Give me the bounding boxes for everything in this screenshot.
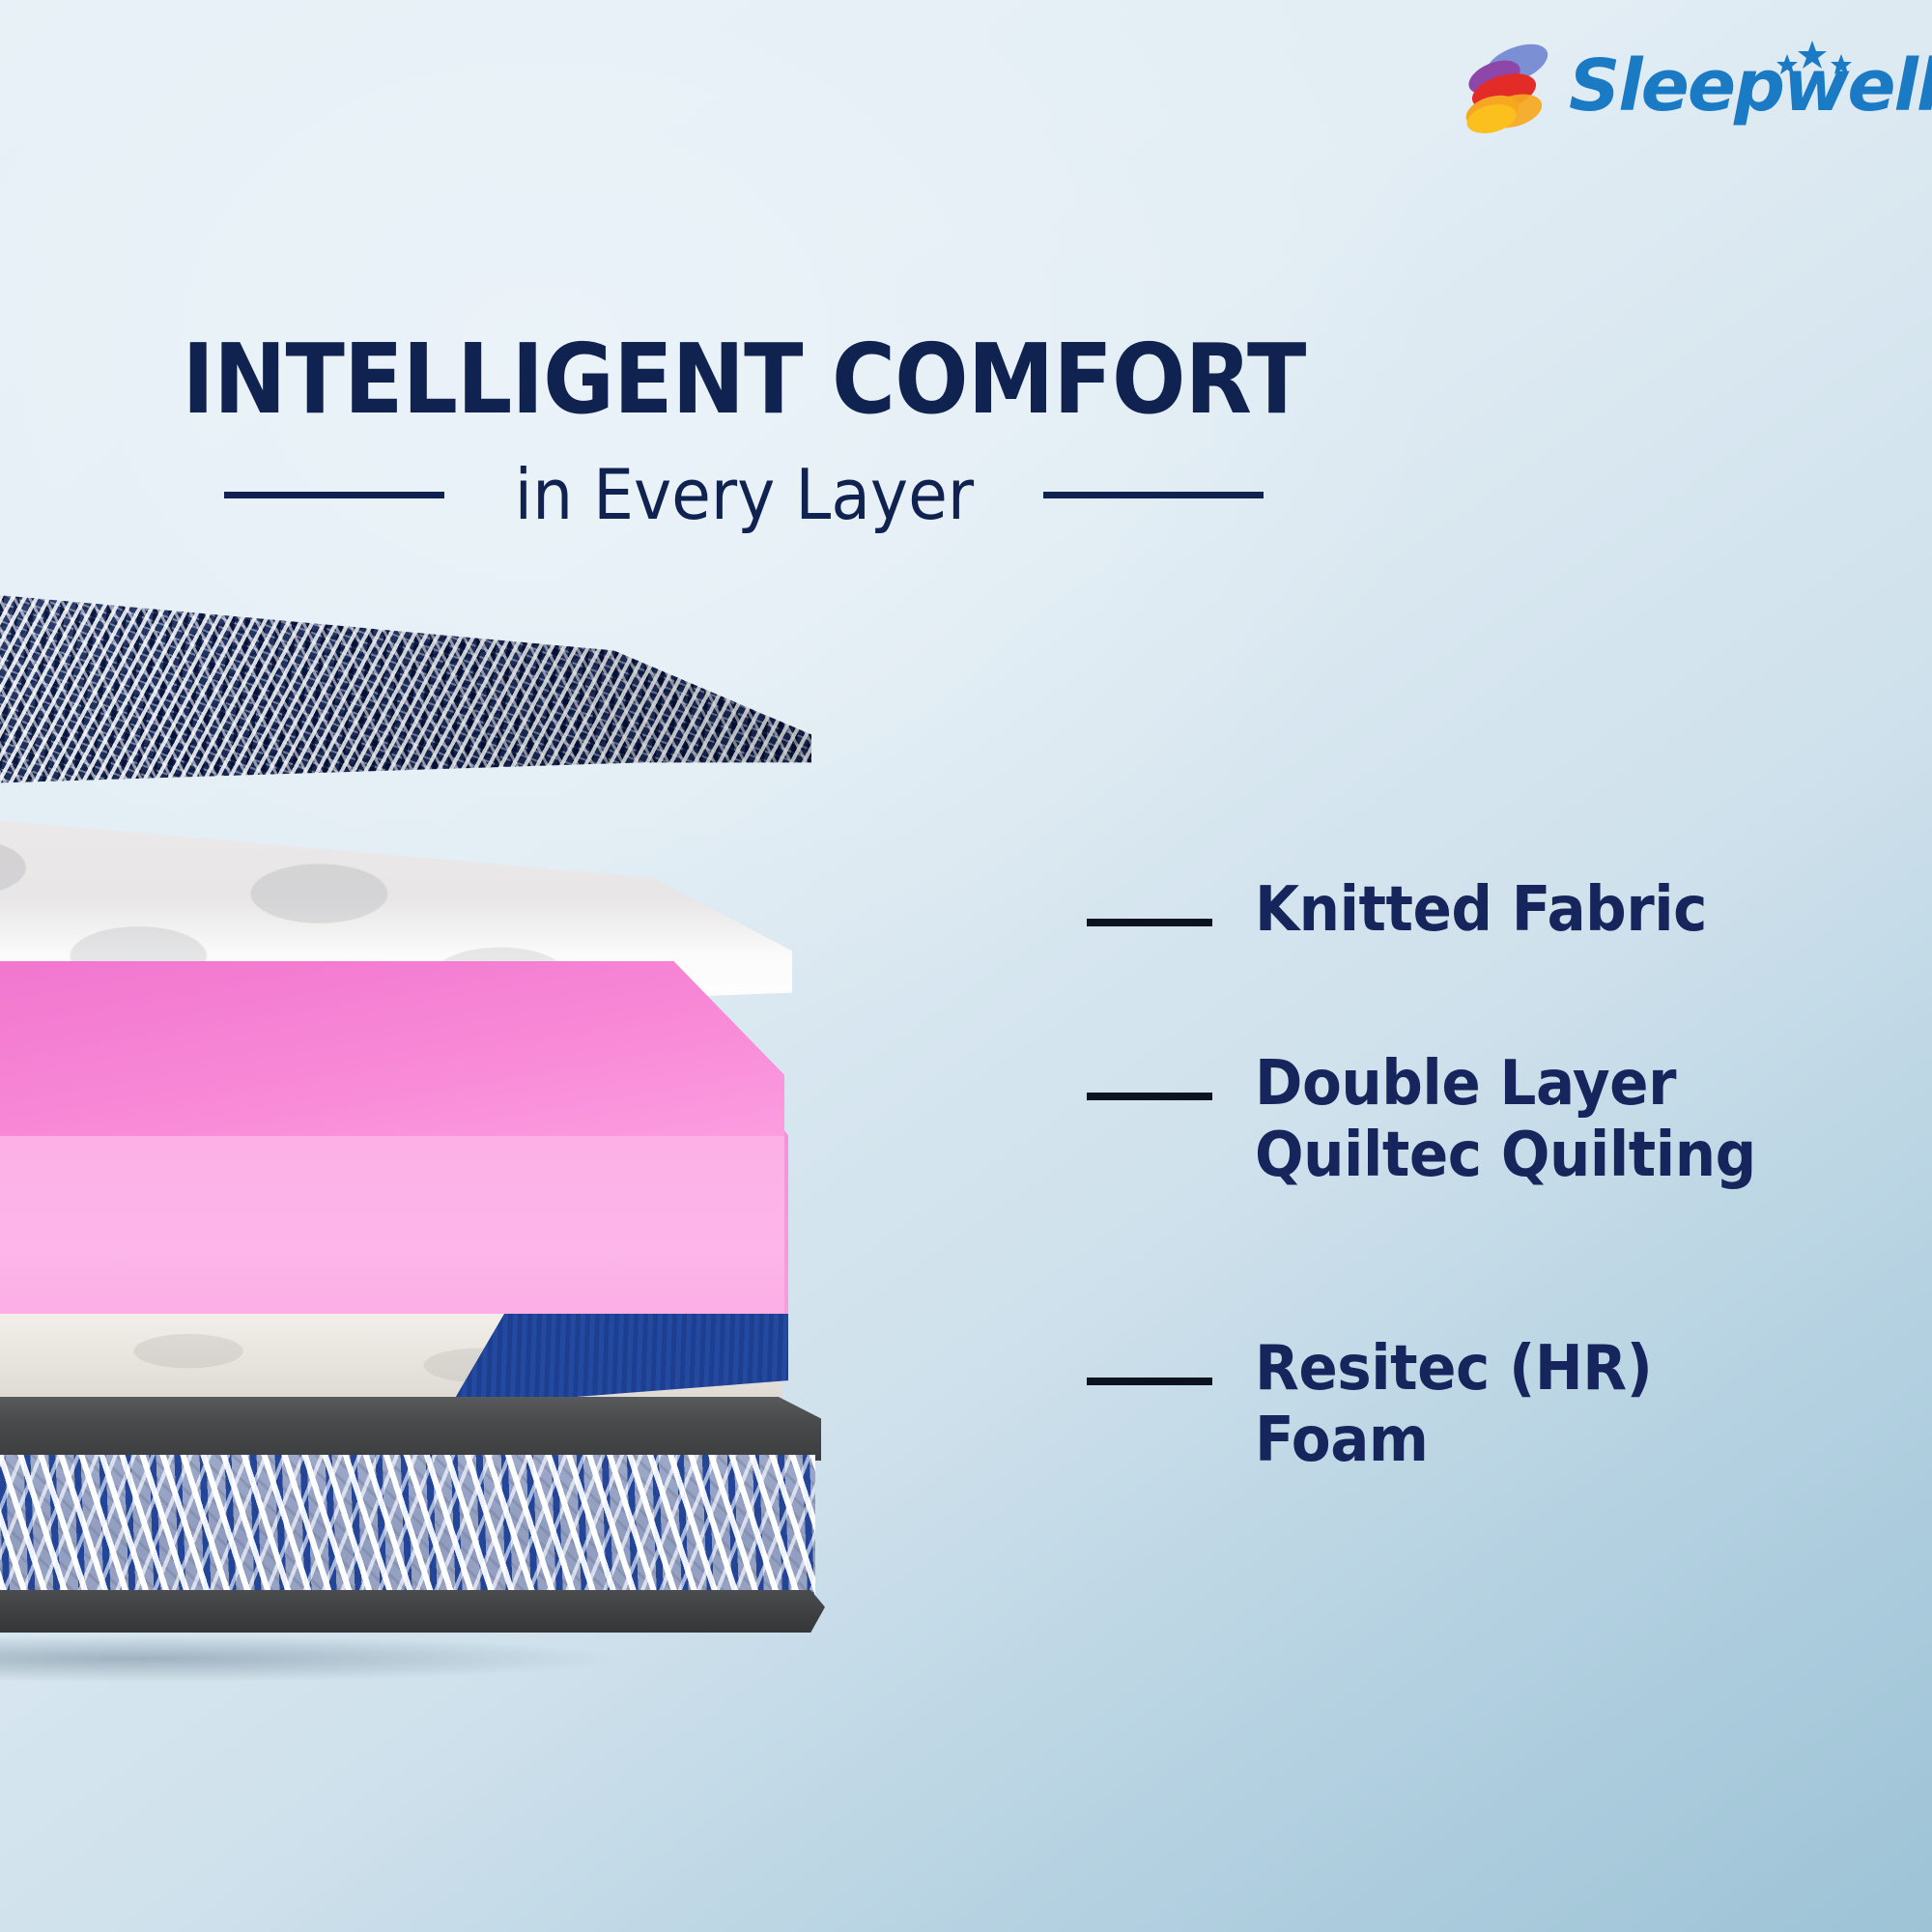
base-piping-top bbox=[0, 1397, 821, 1461]
callout-knitted-fabric: Knitted Fabric bbox=[1087, 874, 1741, 946]
mattress-drop-shadow bbox=[0, 1625, 811, 1692]
knitted-fabric-layer bbox=[0, 522, 811, 802]
resitec-hr-foam-top-face bbox=[0, 961, 784, 1145]
resitec-hr-foam-front-face bbox=[0, 1136, 784, 1329]
callout-leader-line bbox=[1087, 1093, 1212, 1100]
callout-resitec-hr-foam: Resitec (HR) Foam bbox=[1087, 1333, 1682, 1476]
callout-leader-line bbox=[1087, 1378, 1212, 1385]
subtitle-rule-left bbox=[224, 492, 444, 498]
knitted-fabric-shading bbox=[0, 522, 811, 802]
callout-double-layer-quiltec-quilting: Double Layer Quiltec Quilting bbox=[1087, 1048, 1794, 1191]
callout-label: Resitec (HR) Foam bbox=[1255, 1333, 1652, 1476]
callout-label: Knitted Fabric bbox=[1255, 874, 1707, 946]
page-title: INTELLIGENT COMFORT bbox=[74, 328, 1413, 430]
infographic-canvas: Sleepwell INTELLIGENT COMFORT in Every L… bbox=[0, 0, 1932, 1932]
sleepwell-s-swirl-icon bbox=[1461, 39, 1553, 137]
sleepwell-wordmark: Sleepwell bbox=[1569, 44, 1932, 128]
base-unit-layer bbox=[0, 1314, 840, 1604]
callout-leader-line bbox=[1087, 919, 1212, 926]
mattress-exploded-diagram bbox=[0, 522, 908, 1517]
callout-label: Double Layer Quiltec Quilting bbox=[1255, 1048, 1756, 1191]
sleepwell-logo: Sleepwell bbox=[1461, 37, 1857, 141]
subtitle-rule-right bbox=[1043, 492, 1264, 498]
three-stars-icon bbox=[1768, 39, 1861, 81]
